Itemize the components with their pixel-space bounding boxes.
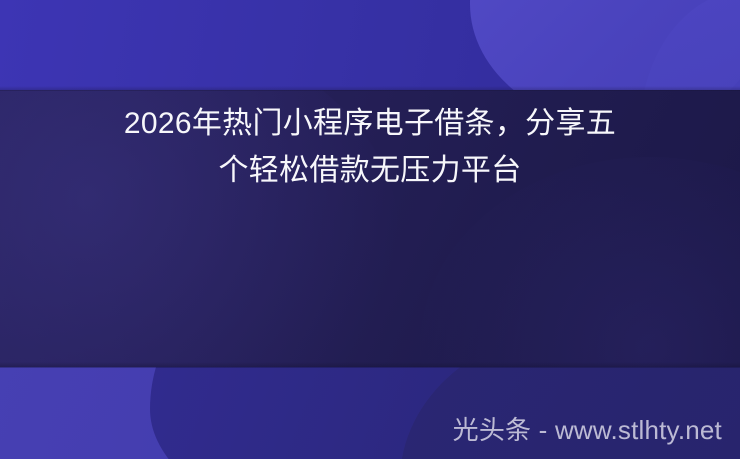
background-bottom-band <box>0 367 740 459</box>
cover-title-line-2: 个轻松借款无压力平台 <box>0 147 740 194</box>
site-watermark: 光头条 - www.stlhty.net <box>453 415 722 445</box>
background-top-seam <box>0 86 740 91</box>
article-cover-image: 2026年热门小程序电子借条，分享五 个轻松借款无压力平台 光头条 - www.… <box>0 0 740 459</box>
cover-title: 2026年热门小程序电子借条，分享五 个轻松借款无压力平台 <box>0 100 740 194</box>
background-top-band <box>0 0 740 90</box>
background-bottom-seam <box>0 362 740 368</box>
background-bottom-dark-shape-secondary <box>400 367 740 459</box>
cover-title-line-1: 2026年热门小程序电子借条，分享五 <box>0 100 740 147</box>
